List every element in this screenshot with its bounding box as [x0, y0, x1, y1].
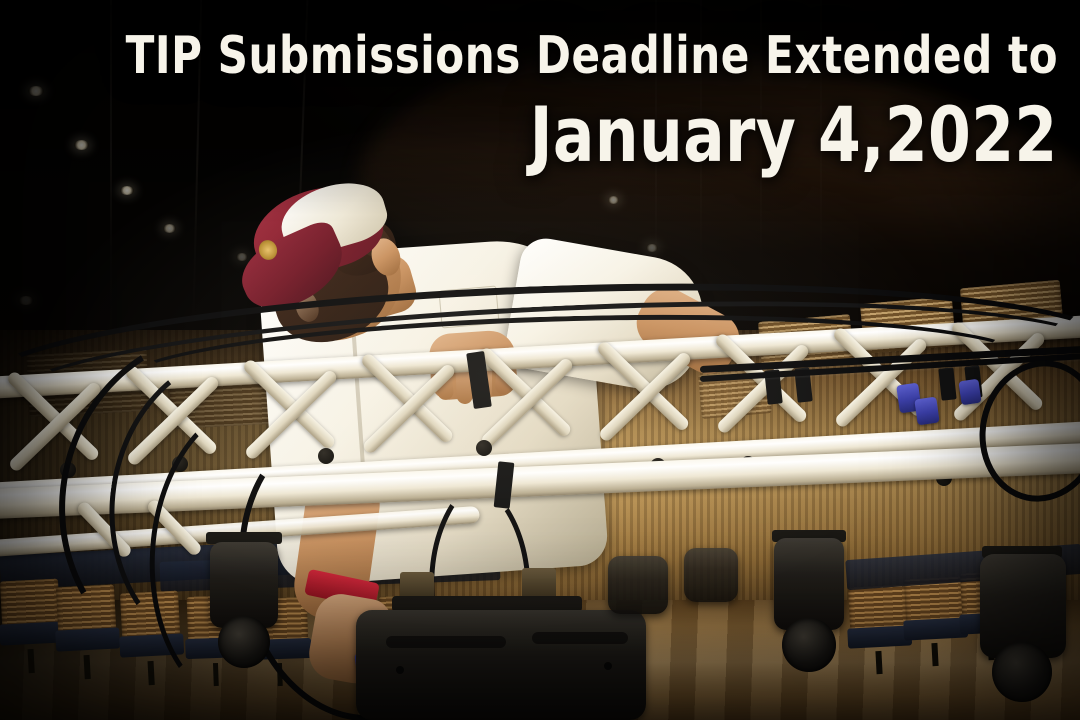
vignette-layer [0, 0, 1080, 720]
promo-banner: TIP Submissions Deadline Extended to Jan… [0, 0, 1080, 720]
background-photograph [0, 0, 1080, 720]
